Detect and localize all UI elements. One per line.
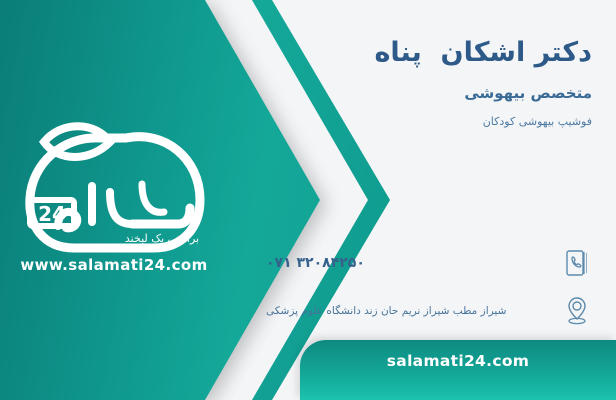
contact-block: ۳۲۰۸۴۲۵۰ ۰۷۱ شیراز مطب شیراز نریم حان زن… xyxy=(262,246,592,342)
logo-tagline: براحتی یک لبخند xyxy=(125,232,199,245)
phone-row[interactable]: ۳۲۰۸۴۲۵۰ ۰۷۱ xyxy=(262,246,592,280)
phone-number[interactable]: ۳۲۰۸۴۲۵۰ ۰۷۱ xyxy=(262,255,562,271)
phone-book-icon xyxy=(562,246,592,280)
logo-24-text: 24 xyxy=(38,202,66,226)
footer-website[interactable]: salamati24.com xyxy=(387,352,529,370)
address-text: شیراز مطب شیراز نریم حان زند دانشگاه علو… xyxy=(262,304,562,319)
doctor-info: دکتر اشکان پناه متخصص بیهوشی فوشیپ بیهوش… xyxy=(272,36,592,128)
brand-logo[interactable]: 24 براحتی یک لبخند www.salamati24.com xyxy=(14,108,214,273)
footer-bar[interactable]: salamati24.com xyxy=(300,340,616,400)
salamati24-logo-icon: 24 براحتی یک لبخند xyxy=(14,108,214,258)
business-card: 24 براحتی یک لبخند www.salamati24.com دک… xyxy=(0,0,616,400)
doctor-specialty: متخصص بیهوشی xyxy=(272,84,592,102)
logo-website-url[interactable]: www.salamati24.com xyxy=(14,256,214,274)
doctor-name: دکتر اشکان پناه xyxy=(272,36,592,70)
map-pin-icon xyxy=(562,294,592,328)
address-row[interactable]: شیراز مطب شیراز نریم حان زند دانشگاه علو… xyxy=(262,294,592,328)
doctor-fellowship: فوشیپ بیهوشی کودکان xyxy=(272,115,592,128)
